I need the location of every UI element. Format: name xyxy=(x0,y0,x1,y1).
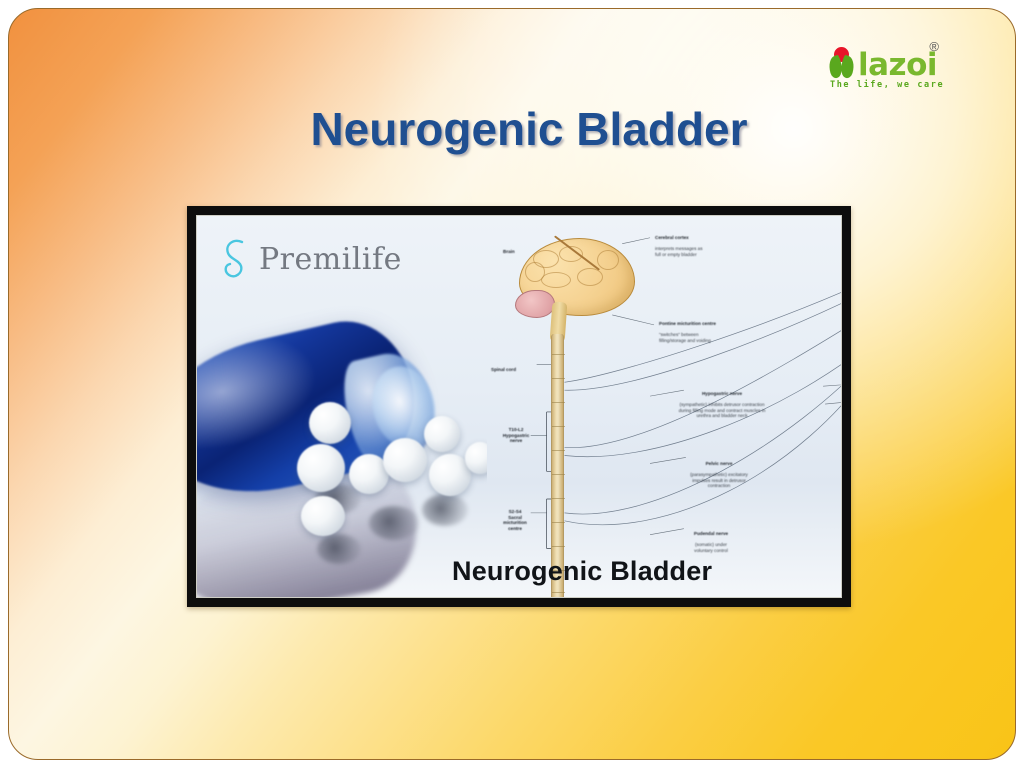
illustration-caption: Neurogenic Bladder xyxy=(452,556,712,587)
label-cerebral-cortex: Cerebral cortex interprets messages as f… xyxy=(655,230,759,257)
pill xyxy=(424,416,460,452)
label-hypogastric-level: T10-L2 Hypogastric nerve xyxy=(489,422,543,444)
pill-shadow xyxy=(369,506,419,540)
label-pontine-micturition-centre: Pontine micturition centre "switches" be… xyxy=(659,316,769,343)
pill xyxy=(309,402,351,444)
label-sacral-micturition-centre: S2-S4 Sacral micturition centre xyxy=(487,504,543,531)
medical-illustration-photo: Premilife xyxy=(197,216,841,597)
brain-fold xyxy=(577,268,603,286)
cerebellum-illustration xyxy=(515,290,555,318)
label-hypogastric-nerve: Hypogastric nerve (sympathetic) inhibits… xyxy=(659,386,785,418)
pill xyxy=(301,496,345,536)
pill-shadow xyxy=(422,494,468,526)
pill xyxy=(383,438,427,482)
picture-frame[interactable]: Premilife xyxy=(187,206,851,607)
logo-wordmark: lazoi xyxy=(858,50,937,81)
picture-inner-border: Premilife xyxy=(196,215,842,598)
brain-fold xyxy=(525,262,545,282)
premilife-swirl-icon xyxy=(219,236,253,282)
premilife-watermark: Premilife xyxy=(219,236,402,282)
lazoi-logo[interactable]: lazoi ® The life, we care xyxy=(827,45,979,97)
label-pelvic-nerve: Pelvic nerve (parasympathetic) excitator… xyxy=(663,456,775,488)
brain-fold xyxy=(541,272,571,288)
slide-background: lazoi ® The life, we care Neurogenic Bla… xyxy=(8,8,1016,760)
slide: lazoi ® The life, we care Neurogenic Bla… xyxy=(0,0,1024,768)
leaf-heart-icon xyxy=(827,47,857,79)
premilife-wordmark: Premilife xyxy=(259,242,402,277)
neuro-bladder-diagram: Brain Cerebral cortex interprets message… xyxy=(473,216,841,597)
registered-trademark-icon: ® xyxy=(929,39,939,54)
pill xyxy=(297,444,345,492)
label-brain: Brain xyxy=(503,244,515,255)
label-pudendal-nerve: Pudendal nerve (somatic) under voluntary… xyxy=(661,526,761,553)
logo-wordmark-row: lazoi ® xyxy=(827,45,937,79)
page-title: Neurogenic Bladder xyxy=(9,102,1016,156)
brain-fold xyxy=(597,250,619,270)
pill-shadow xyxy=(317,534,361,564)
label-spinal-cord: Spinal cord xyxy=(491,362,516,373)
